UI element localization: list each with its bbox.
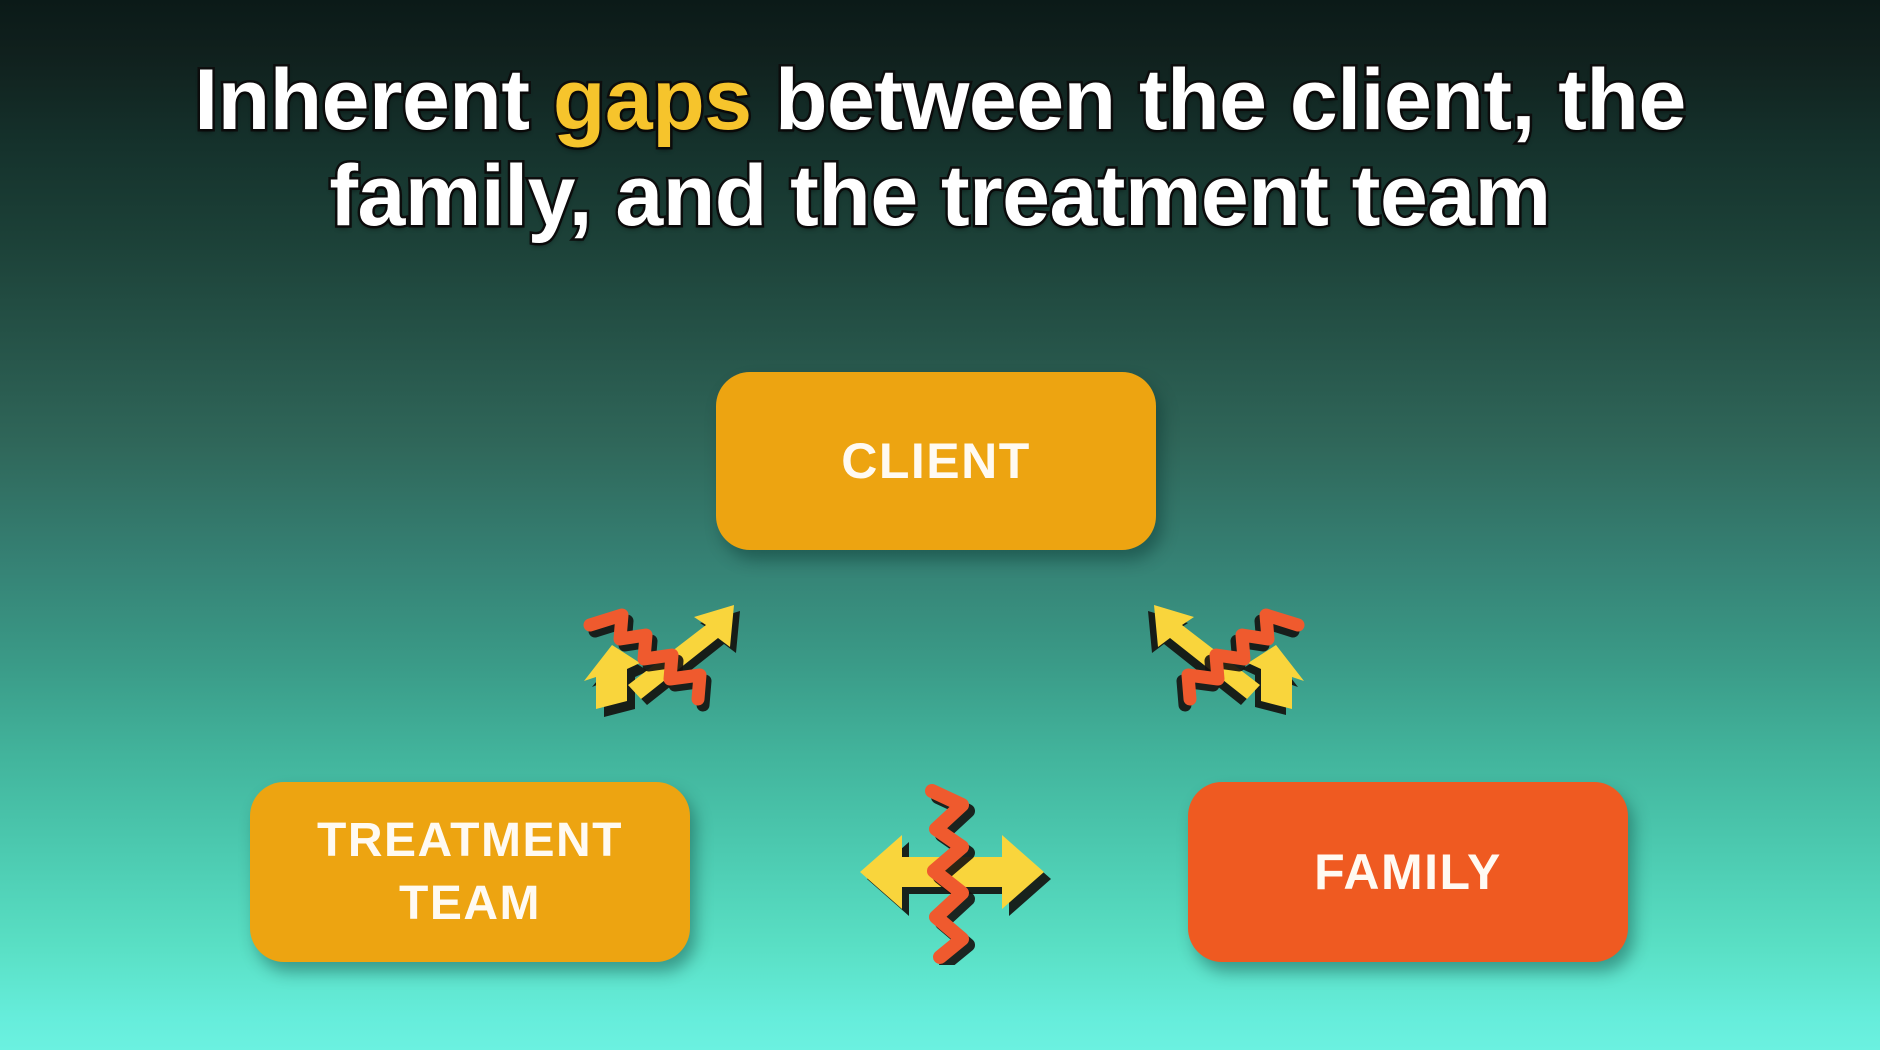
connector-client-family bbox=[1128, 575, 1308, 740]
node-treatment-team[interactable]: TREATMENTTEAM bbox=[250, 782, 690, 962]
node-treatment-team-label-line-1: TREATMENT bbox=[317, 814, 623, 867]
broken-double-arrow-icon bbox=[580, 575, 760, 740]
node-family[interactable]: FAMILY bbox=[1188, 782, 1628, 962]
page-title-text-before: Inherent bbox=[194, 52, 553, 148]
page-title-line-2: family, and the treatment team bbox=[0, 148, 1880, 244]
node-client-label: CLIENT bbox=[841, 428, 1031, 494]
broken-double-arrow-icon bbox=[848, 775, 1058, 965]
node-client[interactable]: CLIENT bbox=[716, 372, 1156, 550]
page-title-text-after: between the client, the bbox=[752, 52, 1686, 148]
page-title: Inherent gaps between the client, the fa… bbox=[0, 52, 1880, 245]
broken-double-arrow-icon bbox=[1128, 575, 1308, 740]
slide-canvas: Inherent gaps between the client, the fa… bbox=[0, 0, 1880, 1050]
page-title-line-1: Inherent gaps between the client, the bbox=[0, 52, 1880, 148]
connector-client-treatment bbox=[580, 575, 760, 740]
node-treatment-team-label-line-2: TEAM bbox=[399, 877, 541, 930]
node-family-label: FAMILY bbox=[1314, 839, 1502, 905]
page-title-highlight: gaps bbox=[553, 52, 752, 148]
connector-treatment-family bbox=[848, 775, 1058, 965]
node-treatment-team-label: TREATMENTTEAM bbox=[317, 809, 623, 936]
